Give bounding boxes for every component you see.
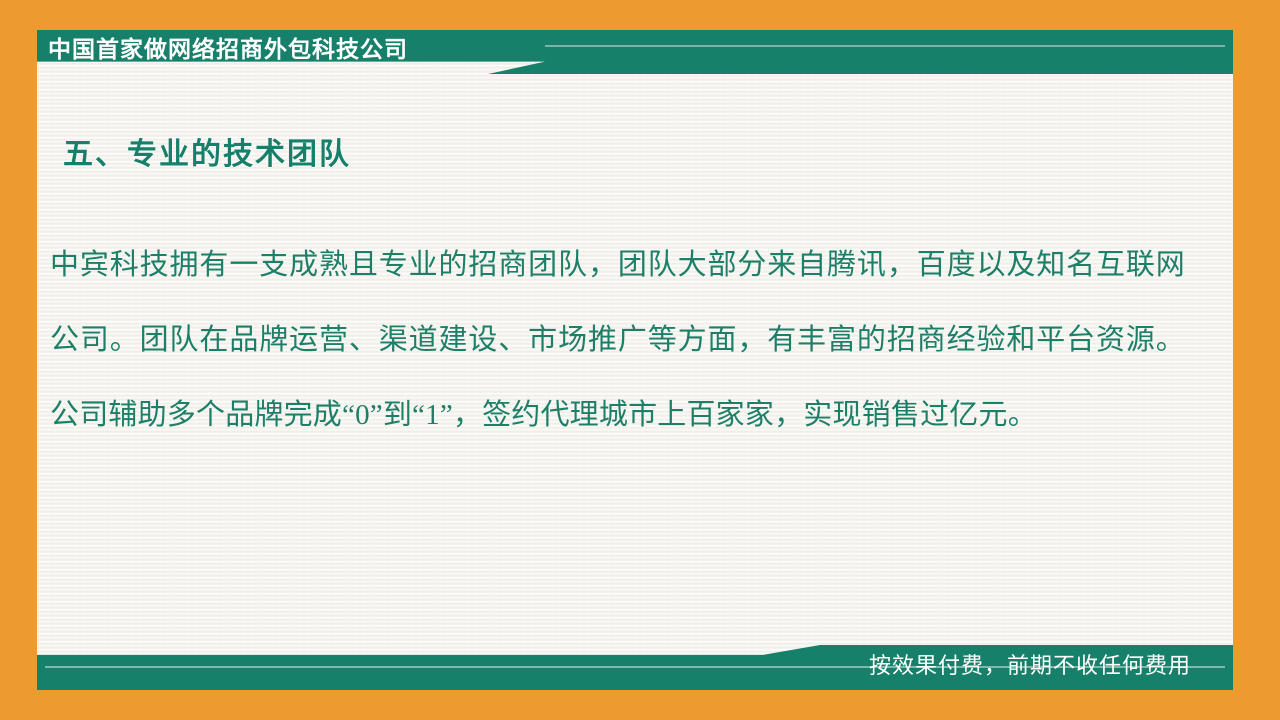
slide-footer-banner: 按效果付费，前期不收任何费用: [37, 645, 1233, 690]
body-paragraph: 中宾科技拥有一支成熟且专业的招商团队，团队大部分来自腾讯，百度以及知名互联网公司…: [50, 228, 1185, 453]
section-heading: 五、专业的技术团队: [63, 134, 351, 176]
presentation-slide: 中国首家做网络招商外包科技公司 五、专业的技术团队 中宾科技拥有一支成熟且专业的…: [0, 0, 1280, 720]
slide-header-banner: 中国首家做网络招商外包科技公司: [37, 30, 1233, 74]
header-divider-line: [545, 45, 1225, 47]
footer-slogan: 按效果付费，前期不收任何费用: [869, 650, 1191, 684]
header-title: 中国首家做网络招商外包科技公司: [48, 33, 408, 67]
